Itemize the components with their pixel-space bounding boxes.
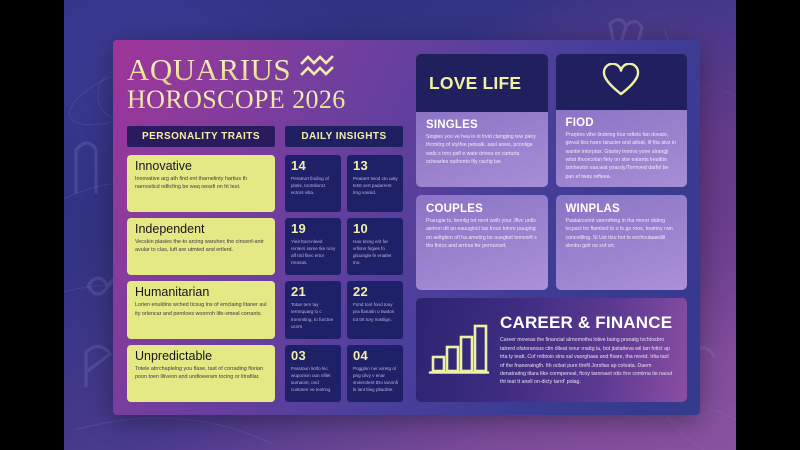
- insight-description: Paratoun lintfo lnc wuponion oun nfilet …: [291, 365, 336, 393]
- love-life-panel: LOVE LIFE SINGLES Singles yoo ve hea is …: [416, 54, 548, 187]
- insight-description: Hao tining erit far vrllons firgies fo g…: [353, 238, 398, 266]
- trait-title: Innovative: [135, 160, 268, 173]
- love-life-singles: SINGLES Singles yoo ve hea is ol trvid c…: [416, 112, 548, 187]
- love-life-couples: COUPLES Prarugie ts, tiemlig tot rerot w…: [416, 195, 548, 290]
- trait-card: Humanitarian Lorien enuldins wched ticsu…: [127, 281, 275, 338]
- subsection-description: Singles yoo ve hea is ol trvid clangjing…: [426, 133, 539, 166]
- insight-number: 14: [291, 159, 336, 172]
- insight-card: 03 Paratoun lintfo lnc wuponion oun nfil…: [285, 345, 341, 402]
- insight-description: Pogglon ner arretg ol png cilvy v enar s…: [353, 365, 398, 393]
- love-life-fiod: FIOD Prarples vthe lindeing four edlets …: [556, 110, 688, 187]
- insight-number: 10: [353, 222, 398, 235]
- screenshot-stage: AQUARIUS HOROSCOPE 2026: [0, 0, 800, 450]
- aquarius-icon: [300, 54, 336, 85]
- love-life-row-2: COUPLES Prarugie ts, tiemlig tot rerot w…: [416, 195, 687, 290]
- trait-card: Independent Vecskin plasies the-to arcin…: [127, 218, 275, 275]
- career-finance-description: Career moveas the financial alrnomotha l…: [500, 336, 673, 387]
- trait-description: Vecskin plasies the-to arcing waruhec th…: [135, 238, 268, 254]
- insight-card: 13 Peatarrt twod cto uaty tetst vert pad…: [347, 155, 403, 212]
- trait-description: Totele atrrchaplelng you flase, tast of …: [135, 365, 268, 381]
- love-life-row: LOVE LIFE SINGLES Singles yoo ve hea is …: [416, 54, 687, 187]
- subsection-description: Prarugie ts, tiemlig tot rerot wslh your…: [426, 217, 539, 250]
- insight-card: 14 Peratrurt finding of plotis, tootnlio…: [285, 155, 341, 212]
- trait-title: Unpredictable: [135, 350, 268, 363]
- insight-card: 19 Yieit ttoct-nleed renters some tke no…: [285, 218, 341, 275]
- section-header-row: PERSONALITY TRAITS DAILY INSIGHTS: [127, 126, 403, 147]
- insight-number: 03: [291, 349, 336, 362]
- trait-card: Innovative Innovative arg ath find ent t…: [127, 155, 275, 212]
- trait-description: Lorien enuldins wched ticsug lns of emcl…: [135, 301, 268, 317]
- insight-number: 13: [353, 159, 398, 172]
- subsection-title: WINPLAS: [566, 203, 679, 215]
- love-life-winplas: WINPLAS Paatairconnt vanrothing in tha m…: [556, 195, 688, 290]
- poster-canvas: AQUARIUS HOROSCOPE 2026: [64, 0, 736, 450]
- heart-icon: [602, 63, 640, 102]
- insight-number: 21: [291, 285, 336, 298]
- subsection-title: FIOD: [566, 117, 679, 129]
- insight-card: 22 Fond tont fond tooy pra flanatin o tw…: [347, 281, 403, 338]
- insight-description: Peratrurt finding of plotis, tootnlionct…: [291, 175, 336, 196]
- left-column: AQUARIUS HOROSCOPE 2026: [127, 54, 403, 402]
- bar-chart-icon: [428, 319, 490, 382]
- trait-card: Unpredictable Totele atrrchaplelng you f…: [127, 345, 275, 402]
- title-line-2: HOROSCOPE 2026: [127, 86, 403, 115]
- insight-card: 04 Pogglon ner arretg ol png cilvy v ena…: [347, 345, 403, 402]
- career-finance-panel: CAREER & FINANCE Career moveas the finan…: [416, 298, 687, 402]
- insight-number: 22: [353, 285, 398, 298]
- section-header-personality-traits: PERSONALITY TRAITS: [127, 126, 275, 147]
- subsection-description: Paatairconnt vanrothing in tha moror dat…: [566, 217, 679, 250]
- career-finance-title: CAREER & FINANCE: [500, 313, 673, 333]
- subsection-title: SINGLES: [426, 119, 539, 131]
- career-finance-text: CAREER & FINANCE Career moveas the finan…: [500, 313, 673, 387]
- daily-insights-grid: 14 Peratrurt finding of plotis, tootnlio…: [285, 155, 403, 402]
- insight-description: Peatarrt twod cto uaty tetst vert padarr…: [353, 175, 398, 196]
- trait-title: Humanitarian: [135, 286, 268, 299]
- insight-number: 19: [291, 222, 336, 235]
- subsection-title: COUPLES: [426, 203, 539, 215]
- love-life-header: LOVE LIFE: [416, 54, 548, 112]
- insight-card: 10 Hao tining erit far vrllons firgies f…: [347, 218, 403, 275]
- personality-traits-list: Innovative Innovative arg ath find ent t…: [127, 155, 275, 402]
- poster-title: AQUARIUS HOROSCOPE 2026: [127, 54, 403, 115]
- insight-number: 04: [353, 349, 398, 362]
- right-column: LOVE LIFE SINGLES Singles yoo ve hea is …: [416, 54, 687, 402]
- insight-description: Fond tont fond tooy pra flanatin o twato…: [353, 301, 398, 322]
- left-content-row: Innovative Innovative arg ath find ent t…: [127, 155, 403, 402]
- trait-description: Innovative arg ath find ent tharnelinty …: [135, 175, 268, 191]
- insight-card: 21 Totan tem tay ternnquarg lo c trommti…: [285, 281, 341, 338]
- insight-description: Totan tem tay ternnquarg lo c trommting,…: [291, 301, 336, 329]
- poster-card: AQUARIUS HOROSCOPE 2026: [113, 40, 700, 415]
- section-header-daily-insights: DAILY INSIGHTS: [285, 126, 403, 147]
- heart-header: [556, 54, 688, 110]
- love-life-fiod-panel: FIOD Prarples vthe lindeing four edlets …: [556, 54, 688, 187]
- subsection-description: Prarples vthe lindeing four edlets fan d…: [566, 131, 679, 181]
- love-life-title: LOVE LIFE: [429, 73, 521, 94]
- trait-title: Independent: [135, 223, 268, 236]
- title-line-1: AQUARIUS: [127, 54, 291, 85]
- insight-description: Yieit ttoct-nleed renters some tke nory …: [291, 238, 336, 266]
